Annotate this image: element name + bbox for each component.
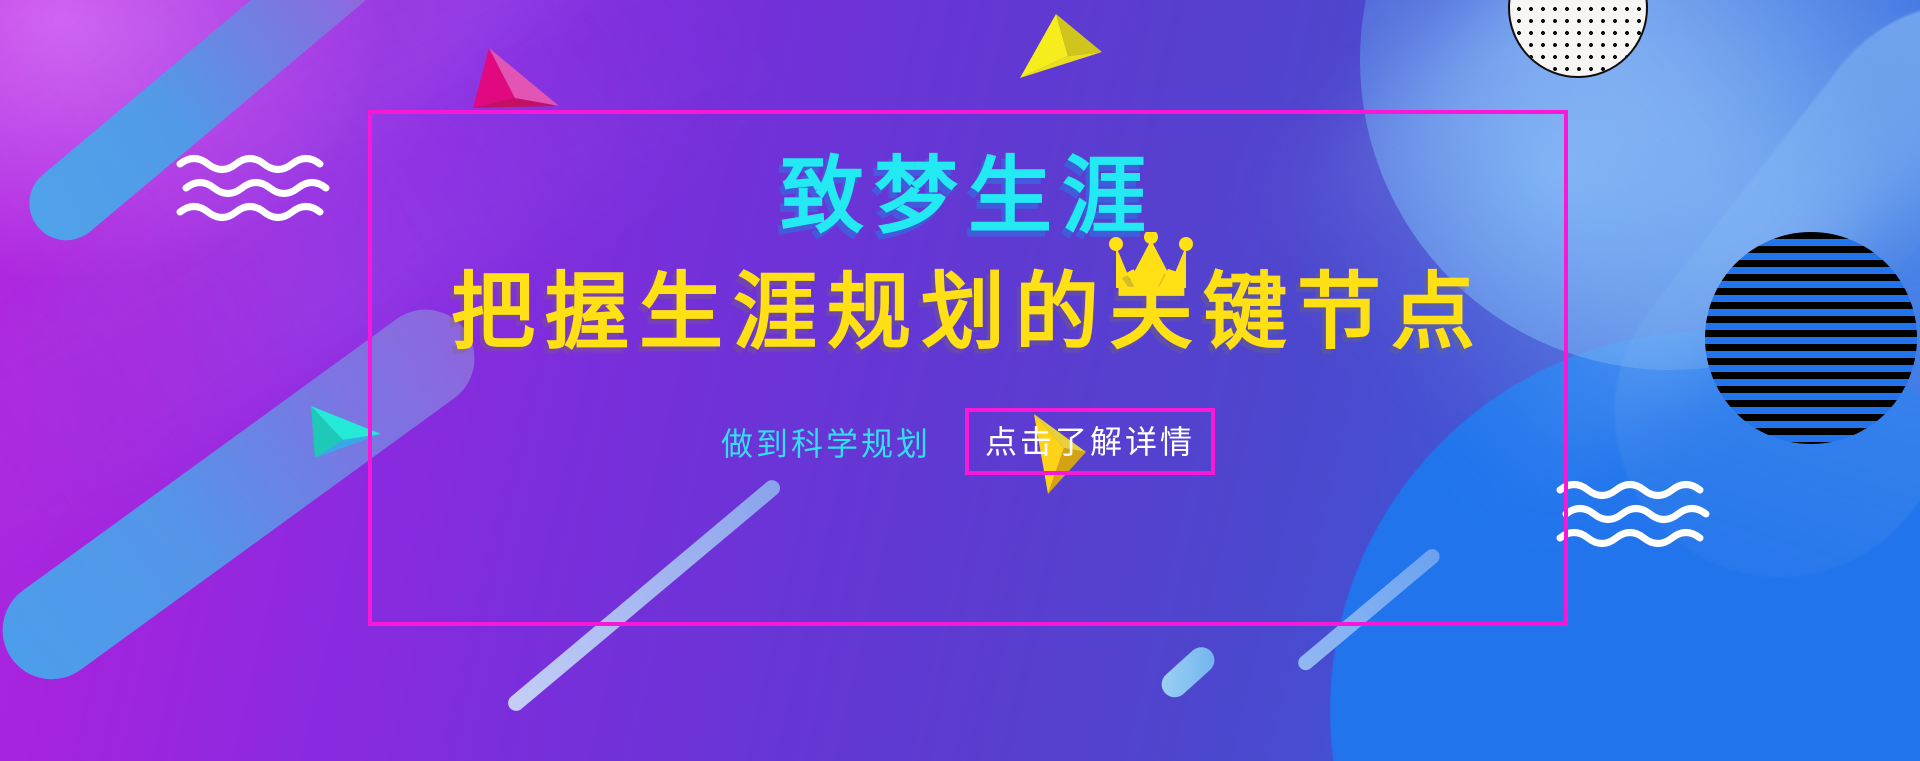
banner-tagline: 做到科学规划 — [721, 419, 931, 465]
banner-sub-title: 把握生涯规划的关键节点 — [368, 270, 1568, 354]
pink-tetrahedron-icon — [467, 46, 565, 118]
blue-chip-bar — [1156, 642, 1219, 703]
banner-main-title: 致梦生涯 — [368, 154, 1568, 238]
striped-circle-icon — [1705, 232, 1917, 444]
learn-more-button[interactable]: 点击了解详情 — [965, 408, 1215, 475]
banner-content: 致梦生涯 把握生涯规划的关键节点 做到科学规划 点击了解详情 — [368, 110, 1568, 626]
wave-lines-icon — [176, 152, 336, 224]
cta-row: 做到科学规划 点击了解详情 — [368, 408, 1568, 475]
polka-dot-circle-icon — [1508, 0, 1648, 78]
yellow-tetrahedron-icon — [1010, 8, 1110, 88]
promo-banner: 致梦生涯 把握生涯规划的关键节点 做到科学规划 点击了解详情 — [0, 0, 1920, 761]
wave-lines-icon — [1556, 478, 1716, 550]
